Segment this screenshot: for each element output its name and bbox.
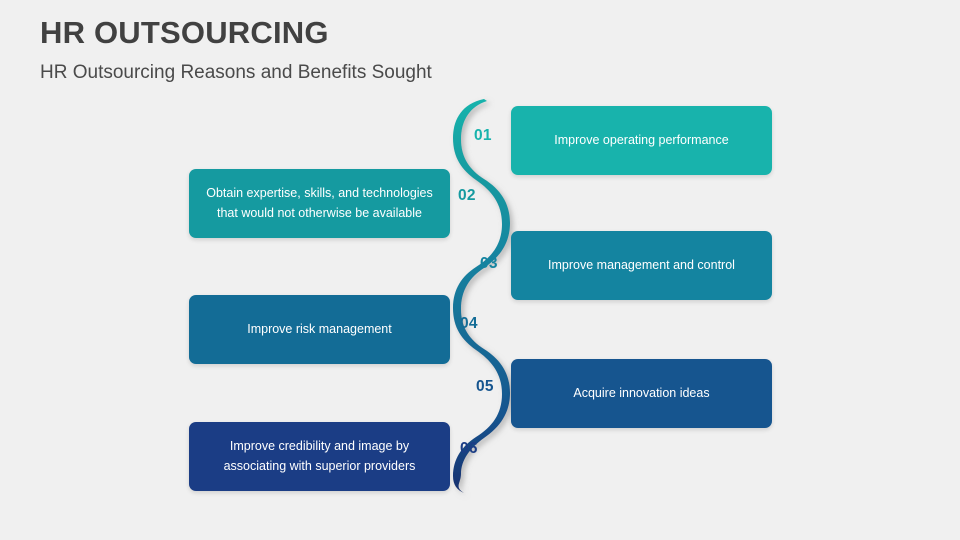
serpentine-process-diagram: Improve operating performance 01 Obtain … (0, 0, 960, 540)
step-text-05: Acquire innovation ideas (573, 384, 709, 403)
step-box-04[interactable]: Improve risk management (189, 295, 450, 364)
step-number-05: 05 (476, 378, 494, 396)
step-box-06[interactable]: Improve credibility and image by associa… (189, 422, 450, 491)
step-text-03: Improve management and control (548, 256, 735, 275)
step-text-01: Improve operating performance (554, 131, 728, 150)
step-box-05[interactable]: Acquire innovation ideas (511, 359, 772, 428)
step-text-02: Obtain expertise, skills, and technologi… (203, 184, 436, 223)
step-number-06: 06 (460, 440, 478, 458)
step-box-01[interactable]: Improve operating performance (511, 106, 772, 175)
step-number-04: 04 (460, 315, 478, 333)
step-box-02[interactable]: Obtain expertise, skills, and technologi… (189, 169, 450, 238)
step-number-02: 02 (458, 187, 476, 205)
step-text-04: Improve risk management (247, 320, 392, 339)
step-box-03[interactable]: Improve management and control (511, 231, 772, 300)
step-text-06: Improve credibility and image by associa… (203, 437, 436, 476)
step-number-03: 03 (480, 255, 498, 273)
step-number-01: 01 (474, 127, 492, 145)
